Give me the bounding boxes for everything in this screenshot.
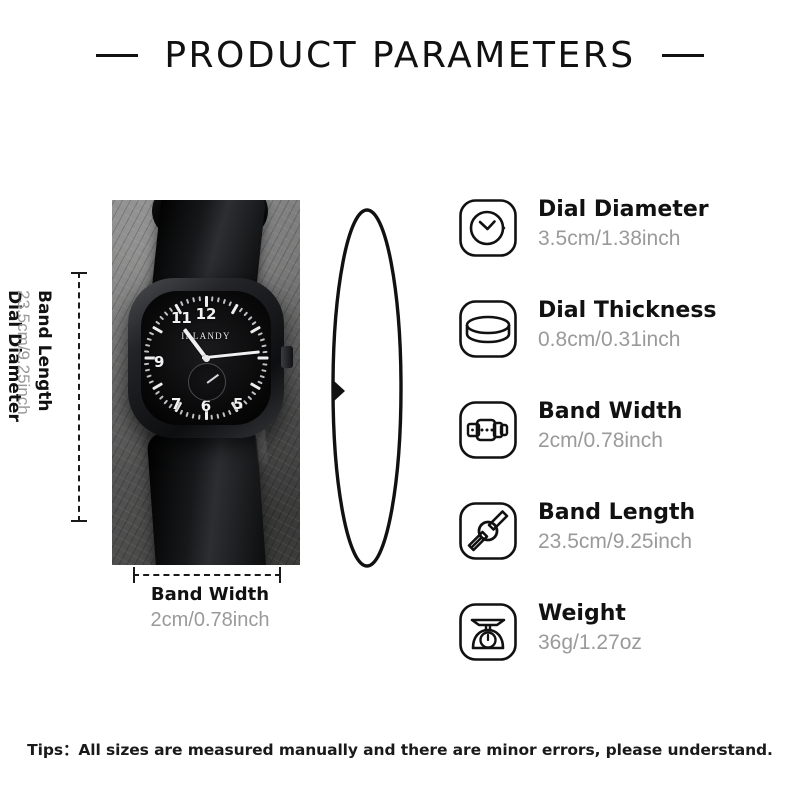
- spec-label-dial-thickness: Dial Thickness: [538, 299, 717, 324]
- dial-diameter-cap-bottom: [71, 520, 87, 522]
- dial-diameter-measure-line: [78, 272, 80, 522]
- band-width-annotation-label: Band Width: [60, 584, 360, 605]
- spec-text-band-length: Band Length 23.5cm/9.25inch: [538, 499, 695, 554]
- band-length-loop-arrow-icon: [312, 198, 422, 578]
- spec-text-band-width: Band Width 2cm/0.78inch: [538, 398, 682, 453]
- dial-diameter-cap-top: [71, 272, 87, 274]
- page-header: PRODUCT PARAMETERS: [0, 30, 800, 80]
- spec-label-band-length: Band Length: [538, 501, 695, 526]
- title-dash-right: [662, 54, 704, 57]
- spec-text-dial-thickness: Dial Thickness 0.8cm/0.31inch: [538, 297, 717, 352]
- title-dash-left: [96, 54, 138, 57]
- spec-value-dial-thickness: 0.8cm/0.31inch: [538, 327, 717, 352]
- spec-row-weight: Weight 36g/1.27oz: [458, 600, 778, 701]
- band-length-loop: [312, 198, 422, 578]
- band-width-annotation: Band Width 2cm/0.78inch: [60, 584, 360, 632]
- watch-subdial: [188, 363, 226, 401]
- watch-strap-lower: [147, 426, 268, 565]
- dial-diameter-dashed-line: [78, 272, 80, 522]
- band-length-annotation-label: Band Length: [34, 290, 54, 550]
- band-length-annotation: Band Length 23.5cm/9.25inch: [13, 290, 54, 550]
- spec-row-dial-thickness: Dial Thickness 0.8cm/0.31inch: [458, 297, 778, 398]
- watch-case: IRLANDY 12 11 9 7 6 5: [128, 278, 284, 438]
- band-width-cap-left: [133, 567, 135, 583]
- spec-text-weight: Weight 36g/1.27oz: [538, 600, 642, 655]
- band-width-measure-line: [133, 574, 281, 576]
- dial-numeral-11: 11: [171, 309, 192, 327]
- band-length-annotation-value: 23.5cm/9.25inch: [13, 290, 33, 550]
- watch-dial-icon: [458, 198, 518, 258]
- product-photo: IRLANDY 12 11 9 7 6 5: [112, 200, 300, 565]
- spec-row-band-length: Band Length 23.5cm/9.25inch: [458, 499, 778, 600]
- page-title: PRODUCT PARAMETERS: [164, 35, 635, 76]
- spec-label-dial-diameter: Dial Diameter: [538, 198, 709, 223]
- dial-brand-text: IRLANDY: [141, 331, 271, 341]
- spec-row-band-width: Band Width 2cm/0.78inch: [458, 398, 778, 499]
- spec-text-dial-diameter: Dial Diameter 3.5cm/1.38inch: [538, 196, 709, 251]
- dial-numeral-12: 12: [196, 305, 217, 323]
- band-width-cap-right: [279, 567, 281, 583]
- spec-value-weight: 36g/1.27oz: [538, 630, 642, 655]
- dial-numeral-9: 9: [154, 353, 164, 371]
- watch-dial: IRLANDY 12 11 9 7 6 5: [141, 291, 271, 425]
- cylinder-puck-icon: [458, 299, 518, 359]
- band-width-dashed-line: [133, 574, 281, 576]
- spec-label-band-width: Band Width: [538, 400, 682, 425]
- spec-row-dial-diameter: Dial Diameter 3.5cm/1.38inch: [458, 196, 778, 297]
- spec-label-weight: Weight: [538, 602, 642, 627]
- band-width-annotation-value: 2cm/0.78inch: [60, 609, 360, 632]
- spec-value-band-length: 23.5cm/9.25inch: [538, 529, 695, 554]
- watch-strap-diagonal-icon: [458, 501, 518, 561]
- kitchen-scale-icon: [458, 602, 518, 662]
- subdial-hand: [207, 374, 219, 384]
- hands-pivot: [203, 355, 210, 362]
- spec-value-dial-diameter: 3.5cm/1.38inch: [538, 226, 709, 251]
- strap-buckle-icon: [458, 400, 518, 460]
- spec-value-band-width: 2cm/0.78inch: [538, 428, 682, 453]
- dial-numeral-7: 7: [171, 395, 181, 413]
- watch-crown: [281, 346, 293, 368]
- spec-list: Dial Diameter 3.5cm/1.38inch Dial Thickn…: [458, 196, 778, 701]
- footer-tip: Tips：All sizes are measured manually and…: [0, 738, 800, 760]
- dial-diameter-annotation-value: 3.5cm/1.38inch: [0, 290, 3, 510]
- dial-numeral-5: 5: [233, 395, 243, 413]
